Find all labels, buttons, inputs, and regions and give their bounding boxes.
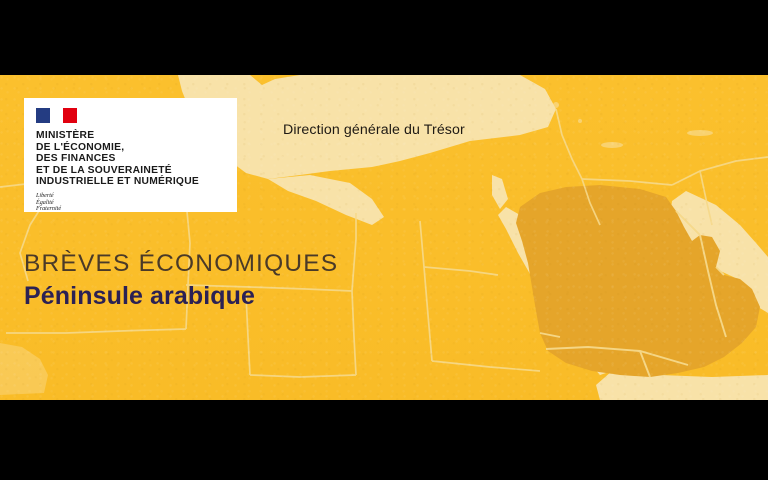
- ministry-line-1: MINISTÈRE: [36, 130, 225, 142]
- flag-stripe-blue: [36, 108, 50, 123]
- french-flag-icon: [36, 108, 77, 123]
- headline-block: BRÈVES ÉCONOMIQUES Péninsule arabique: [24, 250, 338, 311]
- ministry-logo-panel: MINISTÈRE DE L'ÉCONOMIE, DES FINANCES ET…: [24, 98, 237, 212]
- motto-line-liberte: Liberté: [36, 193, 225, 200]
- banner-image: MINISTÈRE DE L'ÉCONOMIE, DES FINANCES ET…: [0, 0, 768, 480]
- flag-stripe-red: [63, 108, 77, 123]
- letterbox-bar-top: [0, 0, 768, 75]
- page-title-kicker: BRÈVES ÉCONOMIQUES: [24, 250, 338, 278]
- ministry-line-5: INDUSTRIELLE ET NUMÉRIQUE: [36, 176, 225, 188]
- republic-motto: Liberté Égalité Fraternité: [36, 193, 225, 213]
- ministry-line-4: ET DE LA SOUVERAINETÉ: [36, 165, 225, 177]
- ministry-line-3: DES FINANCES: [36, 153, 225, 165]
- page-title: Péninsule arabique: [24, 282, 338, 311]
- flag-stripe-white: [50, 108, 63, 123]
- direction-generale-tresor-caption: Direction générale du Trésor: [283, 122, 465, 138]
- letterbox-bar-bottom: [0, 400, 768, 480]
- motto-line-egalite: Égalité: [36, 200, 225, 207]
- ministry-name: MINISTÈRE DE L'ÉCONOMIE, DES FINANCES ET…: [36, 130, 225, 188]
- ministry-line-2: DE L'ÉCONOMIE,: [36, 142, 225, 154]
- motto-line-fraternite: Fraternité: [36, 206, 225, 213]
